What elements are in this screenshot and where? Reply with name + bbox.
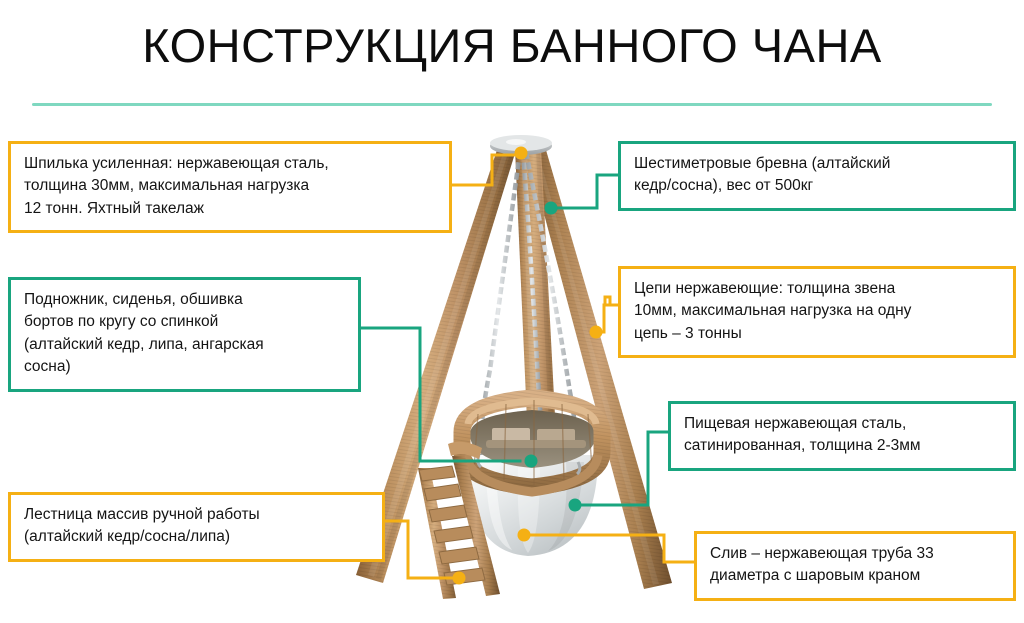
leader-chains (600, 305, 618, 332)
hotspot-basin-shell[interactable] (569, 499, 582, 512)
leader-drain (530, 535, 694, 562)
callout-chains-line-3: цепь – 3 тонны (634, 323, 1000, 345)
callout-interior-line-4: сосна) (24, 356, 345, 378)
hotspot-tripod-leg[interactable] (545, 202, 558, 215)
callout-ladder-line-1: Лестница массив ручной работы (24, 504, 369, 526)
callout-drain-line-1: Слив – нержавеющая труба 33 (710, 543, 1000, 565)
callout-interior-line-1: Подножник, сиденья, обшивка (24, 289, 345, 311)
callout-interior-trim[interactable]: Подножник, сиденья, обшивка бортов по кр… (8, 277, 361, 392)
hotspot-tripod-apex[interactable] (515, 147, 528, 160)
callout-food-steel[interactable]: Пищевая нержавеющая сталь, сатинированна… (668, 401, 1016, 471)
callout-chains-line-1: Цепи нержавеющие: толщина звена (634, 278, 1000, 300)
callout-ladder[interactable]: Лестница массив ручной работы (алтайский… (8, 492, 385, 562)
hotspot-ladder-foot[interactable] (453, 572, 466, 585)
callout-food-steel-line-2: сатинированная, толщина 2-3мм (684, 435, 1000, 457)
callout-stud-line-1: Шпилька усиленная: нержавеющая сталь, (24, 153, 436, 175)
leader-logs (557, 175, 618, 208)
callout-logs-line-2: кедр/сосна), вес от 500кг (634, 175, 1000, 197)
hotspot-tub-interior[interactable] (525, 455, 538, 468)
callout-chains[interactable]: Цепи нержавеющие: толщина звена 10мм, ма… (618, 266, 1016, 358)
callout-chains-line-2: 10мм, максимальная нагрузка на одну (634, 300, 1000, 322)
callout-stud-line-2: толщина 30мм, максимальная нагрузка (24, 175, 436, 197)
callout-food-steel-line-1: Пищевая нержавеющая сталь, (684, 413, 1000, 435)
leader-food-steel (582, 432, 668, 505)
callout-stud-line-3: 12 тонн. Яхтный такелаж (24, 198, 436, 220)
hotspot-chain-strand[interactable] (590, 326, 603, 339)
leader-ladder (385, 521, 452, 578)
callout-logs-line-1: Шестиметровые бревна (алтайский (634, 153, 1000, 175)
callout-drain-line-2: диаметра с шаровым краном (710, 565, 1000, 587)
leader-interior (361, 328, 520, 461)
leader-stud (452, 155, 515, 185)
callout-interior-line-3: (алтайский кедр, липа, ангарская (24, 334, 345, 356)
callout-interior-line-2: бортов по кругу со спинкой (24, 311, 345, 333)
callout-stud[interactable]: Шпилька усиленная: нержавеющая сталь, то… (8, 141, 452, 233)
infographic-canvas: КОНСТРУКЦИЯ БАННОГО ЧАНА (0, 0, 1024, 623)
callout-logs[interactable]: Шестиметровые бревна (алтайский кедр/сос… (618, 141, 1016, 211)
callout-drain[interactable]: Слив – нержавеющая труба 33 диаметра с ш… (694, 531, 1016, 601)
hotspot-basin-bottom[interactable] (518, 529, 531, 542)
callout-ladder-line-2: (алтайский кедр/сосна/липа) (24, 526, 369, 548)
